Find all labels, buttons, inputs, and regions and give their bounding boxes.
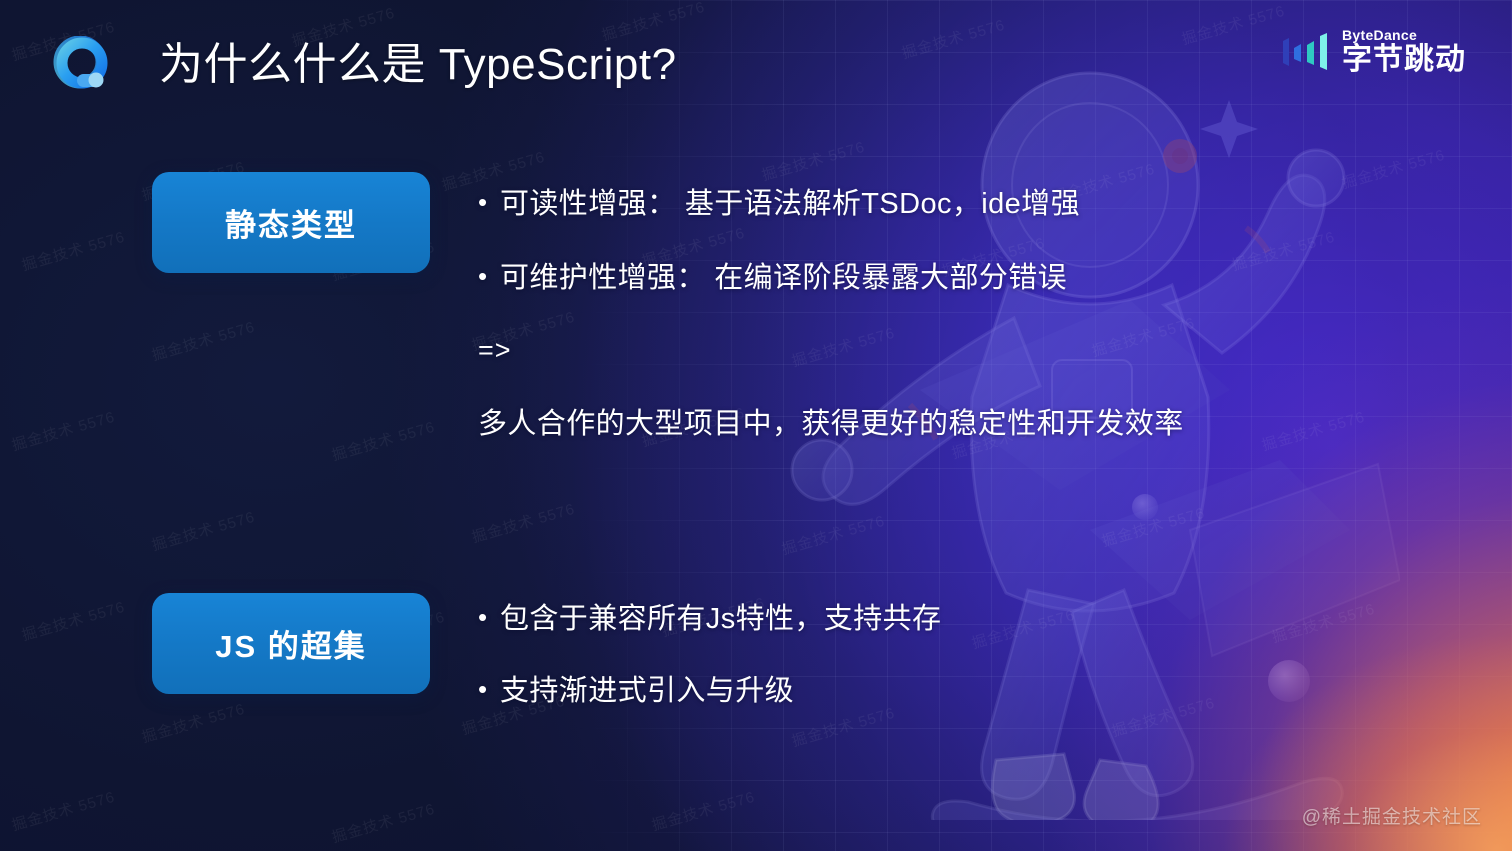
bullet-line: 可维护性增强： 在编译阶段暴露大部分错误 (478, 259, 1067, 295)
bullet-line: 包含于兼容所有Js特性，支持共存 (478, 600, 941, 636)
slide-canvas: 掘金技术 5576 掘金技术 5576 掘金技术 5576 掘金技术 5576 … (0, 0, 1512, 851)
content-lines: 可读性增强： 基于语法解析TSDoc，ide增强 可维护性增强： 在编译阶段暴露… (478, 0, 1478, 851)
section-pill-static-types[interactable]: 静态类型 (152, 172, 430, 273)
bullet-line: 可读性增强： 基于语法解析TSDoc，ide增强 (478, 185, 1080, 221)
section-pill-label: JS 的超集 (215, 621, 367, 666)
section-pill-js-superset[interactable]: JS 的超集 (152, 593, 430, 694)
bullet-line: 支持渐进式引入与升级 (478, 672, 794, 708)
arrow-line: => (478, 333, 512, 367)
corner-watermark: @稀土掘金技术社区 (1302, 802, 1482, 829)
section-pill-label: 静态类型 (225, 200, 357, 245)
juejin-ring-logo-icon (53, 36, 111, 94)
conclusion-line: 多人合作的大型项目中，获得更好的稳定性和开发效率 (478, 407, 1184, 441)
